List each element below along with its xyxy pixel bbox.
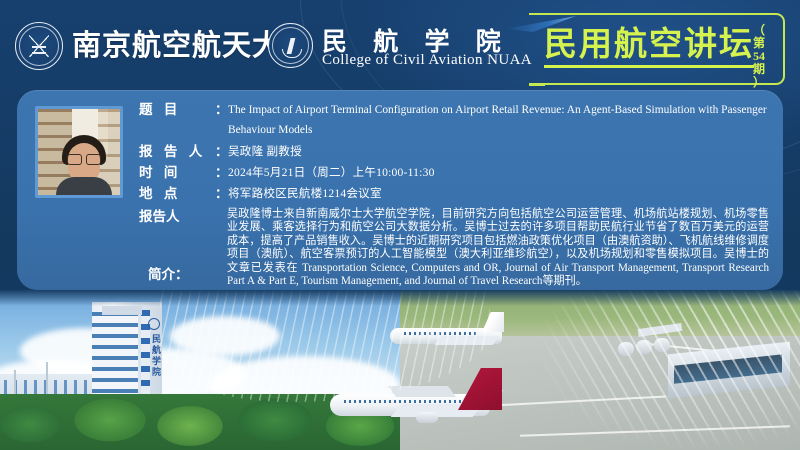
building-char-4: 院 — [150, 367, 163, 378]
label-title: 题 目 — [139, 100, 215, 119]
poster-canvas: 南京航空航天大學 民 航 学 院 College of Civil Aviati… — [0, 0, 800, 450]
civil-aviation-seal-icon — [268, 23, 313, 68]
forum-badge: 民用航空讲坛 （ 第 54 期 ） — [531, 13, 785, 85]
label-biography-line1: 报告人 — [139, 208, 215, 266]
colon-speaker: ： — [215, 142, 228, 161]
label-time: 时 间 — [139, 163, 215, 182]
speaker-photo — [35, 106, 123, 198]
row-time: 时 间 ： 2024年5月21日（周二）上午10:00-11:30 — [139, 163, 769, 182]
forum-issue-number: （ 第 54 期 ） — [745, 24, 773, 89]
colon-title: ： — [215, 100, 228, 119]
issue-close-paren: ） — [745, 76, 773, 89]
building-name-vertical: 民 航 学 院 — [150, 334, 163, 378]
colon-time: ： — [215, 163, 228, 182]
value-speaker: 吴政隆 副教授 — [228, 142, 769, 161]
nuaa-seal-icon — [15, 22, 63, 70]
building-logo-icon — [148, 318, 160, 330]
row-speaker: 报 告 人 ： 吴政隆 副教授 — [139, 142, 769, 161]
value-time: 2024年5月21日（周二）上午10:00-11:30 — [228, 163, 769, 182]
building-char-2: 航 — [150, 345, 163, 356]
event-detail-rows: 题 目 ： The Impact of Airport Terminal Con… — [139, 98, 769, 314]
forum-title: 民用航空讲坛 — [544, 27, 754, 68]
value-location: 将军路校区民航楼1214会议室 — [228, 184, 769, 203]
college-name-en: College of Civil Aviation NUAA — [322, 52, 532, 69]
eyeglasses-icon — [67, 154, 101, 163]
terminal-building — [668, 342, 790, 399]
bottom-photo-strip: 民 航 学 院 — [0, 290, 800, 450]
label-speaker: 报 告 人 — [139, 142, 215, 161]
event-info-panel: 题 目 ： The Impact of Airport Terminal Con… — [17, 90, 783, 290]
airport-apron-scene — [400, 290, 800, 450]
building-char-1: 民 — [150, 334, 163, 345]
value-title: The Impact of Airport Terminal Configura… — [228, 100, 769, 140]
row-title: 题 目 ： The Impact of Airport Terminal Con… — [139, 100, 769, 140]
building-char-3: 学 — [150, 356, 163, 367]
value-biography: 吴政隆博士来自新南威尔士大学航空学院，目前研究方向包括航空公司运营管理、机场航站… — [227, 208, 769, 288]
label-location: 地 点 — [139, 184, 215, 203]
poster-header: 南京航空航天大學 民 航 学 院 College of Civil Aviati… — [0, 0, 800, 90]
colon-location: ： — [215, 184, 228, 203]
aircraft-tail-fin — [458, 368, 502, 410]
row-location: 地 点 ： 将军路校区民航楼1214会议室 — [139, 184, 769, 203]
